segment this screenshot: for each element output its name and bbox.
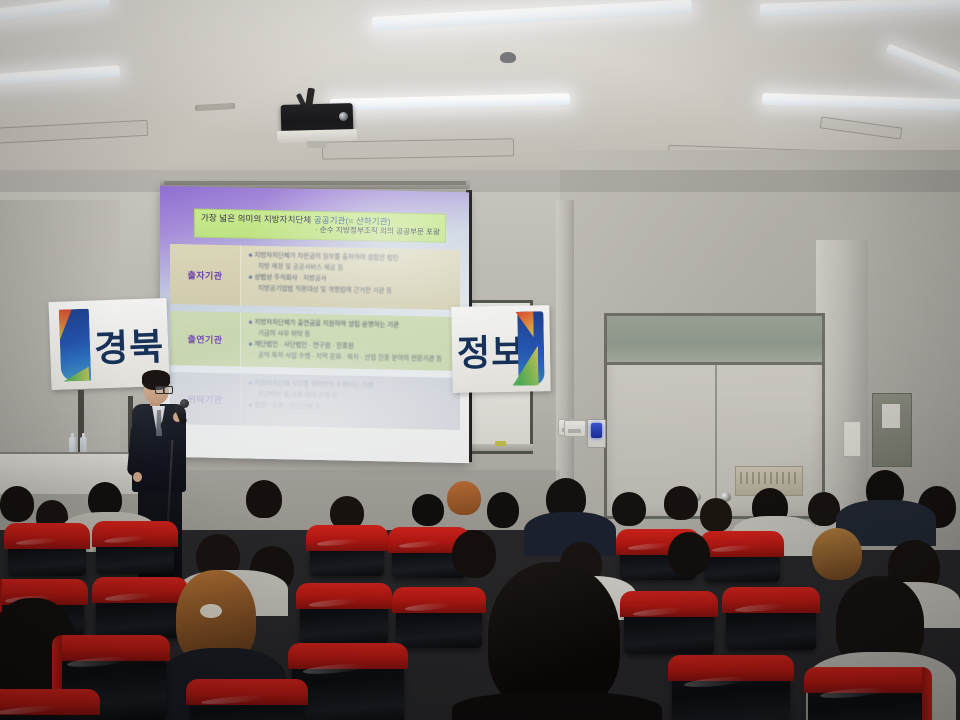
wall-pillar (556, 200, 574, 500)
audience-head (668, 532, 710, 576)
auditorium-seat[interactable] (8, 528, 86, 576)
whiteboard-marker (495, 441, 506, 446)
ceiling-fixture (322, 138, 514, 159)
audience-head (246, 480, 282, 518)
wall-notice-label (882, 404, 900, 428)
lecture-hall-photo: 가장 넓은 의미의 지방자치단체 공공기관(= 산하기관) · 순수 지방정부조… (0, 0, 960, 720)
auditorium-seat[interactable] (624, 596, 714, 654)
audience-head (0, 486, 34, 522)
auditorium-seat[interactable] (300, 588, 388, 644)
slide-title-box: 가장 넓은 의미의 지방자치단체 공공기관(= 산하기관) · 순수 지방정부조… (194, 208, 446, 242)
audience-head (700, 498, 732, 532)
projector-lens (339, 112, 348, 121)
banner-logo (511, 311, 544, 386)
wall-notice-box (872, 393, 912, 467)
hair-tie (200, 604, 222, 618)
light-switch[interactable] (564, 420, 586, 437)
projection-screen: 가장 넓은 의미의 지방자치단체 공공기관(= 산하기관) · 순수 지방정부조… (160, 186, 469, 463)
audience-head (452, 530, 496, 578)
audience-head (487, 492, 519, 528)
slide-row-label: 출자기관 (170, 244, 241, 305)
auditorium-seat[interactable] (190, 684, 304, 720)
auditorium-seat[interactable] (0, 694, 96, 720)
audience-head (447, 481, 481, 515)
banner-jeongbo: 정보 (451, 305, 550, 393)
audience-head (488, 562, 620, 712)
glasses-icon (163, 386, 173, 394)
audience-head (664, 486, 698, 520)
auditorium-seat[interactable] (96, 526, 174, 574)
wall-control-panel[interactable] (587, 419, 606, 448)
slide-row-label: 출연기관 (170, 311, 241, 366)
auditorium-seat[interactable] (292, 648, 404, 720)
auditorium-seat[interactable] (726, 592, 816, 650)
slide-row-body: 지방자치단체가 출연금을 지원하여 설립·운영하는 기관 기금의 사무 위탁 등… (241, 312, 460, 371)
banner-text: 경북 (93, 316, 165, 372)
seat-rim (92, 521, 178, 547)
slide-bullet: 지방공기업법 적용대상 및 개별법에 근거한 기관 등 (249, 284, 454, 297)
presenter-hair (142, 370, 170, 384)
auditorium-seat[interactable] (96, 582, 184, 638)
slide-row-body: 지방자치단체가 자본금의 일부를 출자하여 설립한 법인 지방 재정 및 공공서… (241, 245, 460, 310)
seat-rim (4, 523, 90, 549)
audience-head (612, 492, 646, 526)
smoke-detector (500, 52, 516, 63)
presentation-slide: 가장 넓은 의미의 지방자치단체 공공기관(= 산하기관) · 순수 지방정부조… (160, 186, 469, 463)
seat-rim-right (922, 667, 932, 720)
audience-shoulder (452, 692, 662, 720)
wall-plate (843, 421, 861, 457)
auditorium-seat[interactable] (310, 530, 384, 576)
audience-head (412, 494, 444, 526)
auditorium-seat[interactable] (672, 660, 790, 720)
slide-bullet: 공익 목적 사업 수행 · 지역 문화 · 복지 · 산업 진흥 분야의 전문기… (249, 351, 454, 364)
slide-row: 출자기관 지방자치단체가 자본금의 일부를 출자하여 설립한 법인 지방 재정 … (170, 244, 460, 310)
seat-rim (306, 525, 388, 551)
auditorium-seat[interactable] (396, 592, 482, 648)
seat-rim (700, 531, 784, 557)
audience-head (812, 528, 862, 580)
auditorium-seat[interactable] (808, 672, 928, 720)
wall-shadow (0, 170, 960, 192)
banner-logo (59, 309, 91, 382)
projector-foot (307, 141, 327, 148)
slide-row: 위탁기관 지방자치단체 사무를 위탁받아 수행하는 기관 민간위탁 및 사무 위… (170, 372, 460, 430)
slide-bullet: 협회 · 조합 · 민간단체 등 (249, 401, 454, 414)
presenter-hand (133, 472, 142, 482)
slide-row: 출연기관 지방자치단체가 출연금을 지원하여 설립·운영하는 기관 기금의 사무… (170, 311, 460, 371)
slide-row-body: 지방자치단체 사무를 위탁받아 수행하는 기관 민간위탁 및 사무 위탁 수행 … (241, 373, 460, 430)
microphone-head (180, 399, 189, 408)
door-split (715, 362, 717, 516)
auditorium-seat[interactable] (704, 536, 780, 582)
door-transom-window (607, 316, 822, 365)
